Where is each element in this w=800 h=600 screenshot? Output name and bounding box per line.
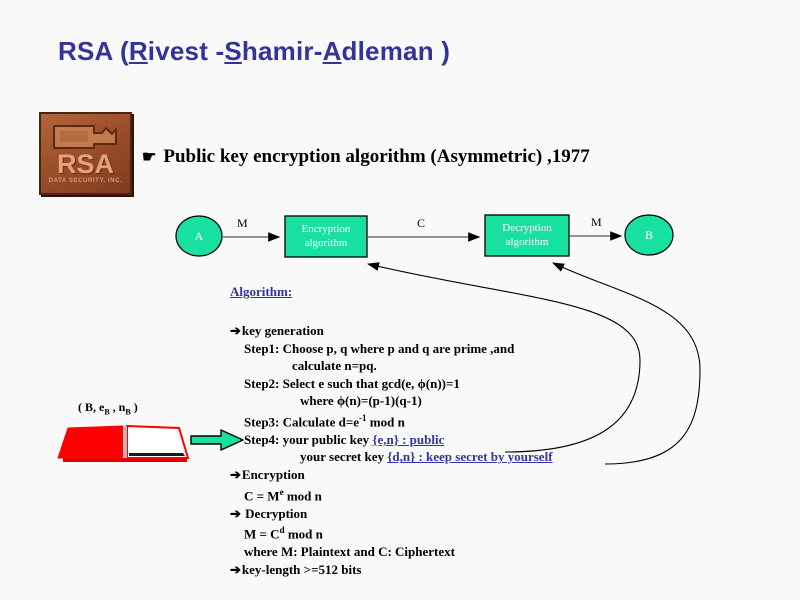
algo-line-text: C = M bbox=[244, 488, 280, 503]
algo-line-step1-cont: calculate n=pq. bbox=[230, 357, 650, 375]
encryption-algorithm-box bbox=[285, 216, 367, 257]
algo-line-text: key generation bbox=[242, 323, 324, 338]
public-key-link[interactable]: {e,n} : public bbox=[372, 432, 444, 447]
book-label-mid: , n bbox=[110, 400, 126, 414]
arrow-bullet-icon: ➔ bbox=[230, 467, 241, 482]
algo-line-step4-cont: your secret key {d,n} : keep secret by y… bbox=[230, 448, 650, 466]
secret-key-link[interactable]: {d,n} : keep secret by yourself bbox=[387, 449, 552, 464]
algo-line-step2: Step2: Select e such that gcd(e, ϕ(n))=1 bbox=[230, 375, 650, 393]
book-key-label: ( B, eB , nB ) bbox=[78, 400, 138, 416]
algo-line-text-after: mod n bbox=[367, 414, 405, 429]
algo-line-step3: Step3: Calculate d=e-1 mod n bbox=[230, 410, 650, 431]
book-label-close: ) bbox=[131, 400, 138, 414]
node-b-ellipse bbox=[625, 215, 673, 255]
green-pointer-arrow-icon bbox=[189, 428, 245, 452]
decryption-algorithm-box bbox=[485, 215, 569, 256]
algo-line-decryption-formula: M = Cd mod n bbox=[230, 522, 650, 543]
algo-line-step2-cont: where ϕ(n)=(p-1)(q-1) bbox=[230, 392, 650, 410]
algo-line-key-length: ➔key-length >=512 bits bbox=[230, 561, 650, 579]
algo-line-text-after: mod n bbox=[284, 488, 322, 503]
arrow-bullet-icon: ➔ bbox=[230, 506, 241, 521]
node-a-ellipse bbox=[176, 216, 222, 256]
algo-line-text: Step1: Choose p, q where p and q are pri… bbox=[244, 341, 514, 356]
algo-line-text: Step2: Select e such that gcd(e, ϕ(n))=1 bbox=[244, 376, 460, 391]
algo-line-step4: Step4: your public key {e,n} : public bbox=[230, 431, 650, 449]
algo-line-text: your secret key bbox=[300, 449, 387, 464]
open-book-graphic bbox=[55, 418, 195, 463]
algo-line-text: where M: Plaintext and C: Ciphertext bbox=[244, 544, 455, 559]
slide-canvas: RSA (Rivest -Shamir-Adleman ) RSA DATA S… bbox=[0, 0, 800, 600]
algorithm-steps-list: ➔key generation Step1: Choose p, q where… bbox=[230, 322, 650, 578]
algo-line-where: where M: Plaintext and C: Ciphertext bbox=[230, 543, 650, 561]
algo-line-decryption: ➔ Decryption bbox=[230, 505, 650, 523]
algorithm-heading: Algorithm: bbox=[230, 284, 292, 300]
algo-line-text: where ϕ(n)=(p-1)(q-1) bbox=[300, 393, 422, 408]
algo-line-text: key-length >=512 bits bbox=[242, 562, 362, 577]
algo-line-step1: Step1: Choose p, q where p and q are pri… bbox=[230, 340, 650, 358]
algo-line-encryption-formula: C = Me mod n bbox=[230, 484, 650, 505]
algo-line-text: Decryption bbox=[242, 506, 307, 521]
arrow-bullet-icon: ➔ bbox=[230, 323, 241, 338]
book-label-open: ( B, e bbox=[78, 400, 104, 414]
algo-line-text-after: mod n bbox=[285, 527, 323, 542]
algo-line-text: Step4: your public key bbox=[244, 432, 372, 447]
algo-line-text: Encryption bbox=[242, 467, 305, 482]
algo-line-superscript: -1 bbox=[359, 413, 367, 423]
algo-line-text: M = C bbox=[244, 527, 280, 542]
algo-line-key-generation: ➔key generation bbox=[230, 322, 650, 340]
algo-line-encryption: ➔Encryption bbox=[230, 466, 650, 484]
algo-line-text: calculate n=pq. bbox=[292, 358, 377, 373]
algo-line-text: Step3: Calculate d=e bbox=[244, 414, 359, 429]
arrow-bullet-icon: ➔ bbox=[230, 562, 241, 577]
